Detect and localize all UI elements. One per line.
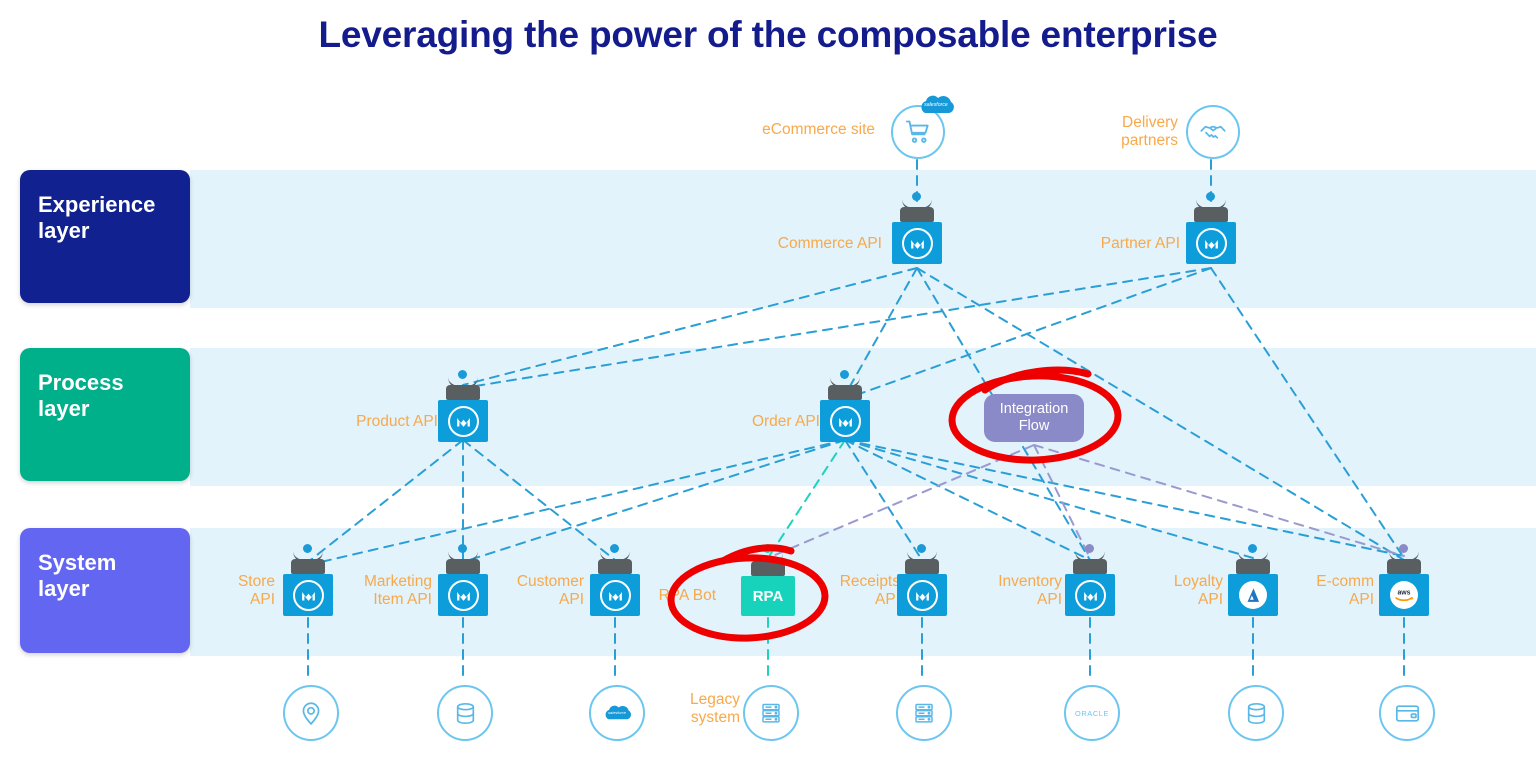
node-label-line2: API: [559, 591, 584, 608]
node-label-line1: Receipts: [840, 573, 900, 590]
mulesoft-icon: [448, 406, 479, 437]
layer-label-line2: layer: [38, 576, 89, 601]
node-label: Customer API: [492, 573, 584, 610]
api-cap-icon: [291, 559, 325, 574]
node-label: E-comm API: [1290, 573, 1374, 610]
diagram-canvas: Leveraging the power of the composable e…: [0, 0, 1536, 769]
node-label-line2: API: [1349, 591, 1374, 608]
backend-salesforce-cloud-icon: salesforce: [589, 685, 645, 741]
channel-label-line2: partners: [1121, 132, 1178, 149]
backend-label: Legacy system: [668, 691, 740, 728]
mulesoft-icon: [1075, 580, 1106, 611]
mulesoft-icon: [448, 580, 479, 611]
api-cap-icon: [446, 385, 480, 400]
flow-label-line1: Integration: [1000, 401, 1069, 418]
api-cap-icon: [446, 559, 480, 574]
backend-database-icon: [1228, 685, 1284, 741]
layer-chip-experience: Experience layer: [20, 170, 190, 303]
node-label-line1: Customer: [517, 573, 584, 590]
page-title: Leveraging the power of the composable e…: [0, 14, 1536, 56]
node-label: Store API: [213, 573, 275, 610]
azure-icon: [1239, 581, 1267, 609]
backend-credit-card-icon: [1379, 685, 1435, 741]
server-rack-icon: [743, 685, 799, 741]
node-label: Marketing Item API: [328, 573, 432, 610]
node-label-line2: Item API: [373, 591, 432, 608]
api-cap-icon: [598, 559, 632, 574]
node-label: RPA Bot: [620, 587, 716, 605]
channel-label-line1: Delivery: [1122, 114, 1178, 131]
api-box[interactable]: [1228, 574, 1278, 616]
node-label-line1: Loyalty: [1174, 573, 1223, 590]
api-cap-icon: [900, 207, 934, 222]
api-box[interactable]: [438, 574, 488, 616]
api-box[interactable]: [1186, 222, 1236, 264]
node-label-line1: Marketing: [364, 573, 432, 590]
api-box[interactable]: aws: [1379, 574, 1429, 616]
node-label: Inventory API: [968, 573, 1062, 610]
api-cap-icon: [1236, 559, 1270, 574]
mulesoft-icon: [907, 580, 938, 611]
api-cap-icon: [1194, 207, 1228, 222]
layer-chip-system: System layer: [20, 528, 190, 653]
mulesoft-icon: [293, 580, 324, 611]
backend-server-rack-icon: [896, 685, 952, 741]
handshake-icon: [1186, 105, 1240, 159]
layer-label-line1: System: [38, 550, 116, 575]
mulesoft-icon: [902, 228, 933, 259]
node-label: Order API: [728, 413, 820, 431]
api-cap-icon: [1387, 559, 1421, 574]
api-cap-icon: [905, 559, 939, 574]
svg-text:aws: aws: [1397, 590, 1410, 597]
node-label-line1: E-comm: [1316, 573, 1374, 590]
api-box[interactable]: [897, 574, 947, 616]
svg-text:ORACLE: ORACLE: [1075, 709, 1109, 718]
api-cap-icon: [828, 385, 862, 400]
channel-label: Delivery partners: [1060, 114, 1178, 151]
api-box[interactable]: [283, 574, 333, 616]
connector-dot: [763, 544, 772, 553]
node-label: Product API: [330, 413, 438, 431]
api-box[interactable]: [892, 222, 942, 264]
svg-text:salesforce: salesforce: [924, 102, 948, 108]
layer-chip-process: Process layer: [20, 348, 190, 481]
api-box[interactable]: [1065, 574, 1115, 616]
api-box[interactable]: [438, 400, 488, 442]
channel-label: eCommerce site: [745, 121, 875, 139]
svg-text:salesforce: salesforce: [608, 710, 627, 715]
node-label-line2: API: [1198, 591, 1223, 608]
layer-label-line1: Process: [38, 370, 124, 395]
node-label: Partner API: [1070, 235, 1180, 253]
mulesoft-icon: [830, 406, 861, 437]
rpa-badge[interactable]: RPA: [741, 576, 795, 616]
api-cap-icon: [751, 561, 785, 576]
backend-location-pin-icon: [283, 685, 339, 741]
mulesoft-icon: [1196, 228, 1227, 259]
node-label-line1: Store: [238, 573, 275, 590]
rpa-badge-text: RPA: [753, 588, 784, 605]
node-label: Commerce API: [760, 235, 882, 253]
backend-label-line1: Legacy: [690, 691, 740, 708]
node-label-line2: API: [1037, 591, 1062, 608]
aws-icon: aws: [1390, 581, 1418, 609]
api-cap-icon: [1073, 559, 1107, 574]
node-label: Receipts API: [812, 573, 900, 610]
node-label-line1: Inventory: [998, 573, 1062, 590]
node-label: Loyalty API: [1145, 573, 1223, 610]
flow-label-line2: Flow: [1019, 418, 1050, 435]
backend-oracle-icon: ORACLE: [1064, 685, 1120, 741]
backend-label-line2: system: [691, 709, 740, 726]
layer-label-line1: Experience: [38, 192, 155, 217]
salesforce-cloud-icon: salesforce: [913, 90, 959, 125]
api-box[interactable]: [820, 400, 870, 442]
node-integration-flow[interactable]: Integration Flow: [984, 394, 1084, 442]
backend-database-icon: [437, 685, 493, 741]
layer-label-line2: layer: [38, 396, 89, 421]
layer-label-line2: layer: [38, 218, 89, 243]
node-label-line2: API: [250, 591, 275, 608]
